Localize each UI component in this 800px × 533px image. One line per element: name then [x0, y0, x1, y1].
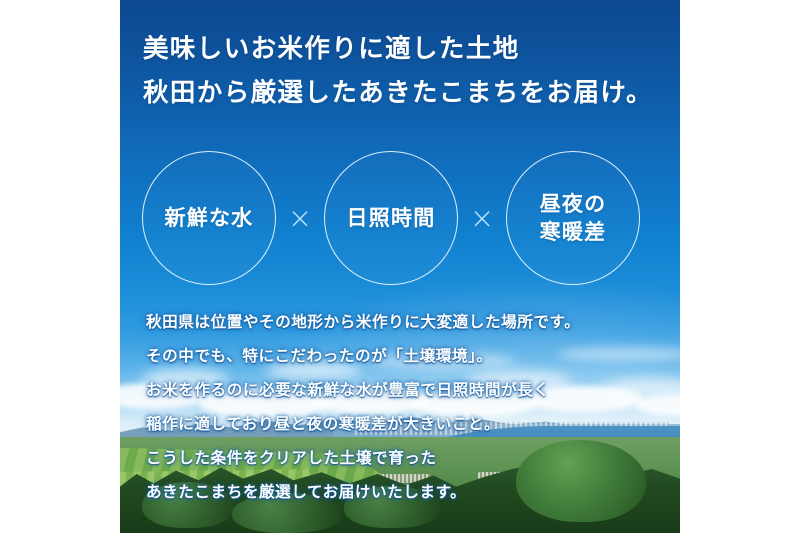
- body-line-6: あきたこまちを厳選してお届けいたします。: [146, 476, 658, 510]
- times-separator-2: ×: [458, 204, 506, 233]
- banner-stage: 美味しいお米作りに適した土地 秋田から厳選したあきたこまちをお届け。 新鮮な水 …: [0, 0, 800, 533]
- factor-label-temperature-line-1: 昼夜の: [540, 190, 607, 218]
- letterbox-right: [680, 0, 800, 533]
- body-line-5: こうした条件をクリアした土壌で育った: [146, 442, 658, 476]
- factor-circle-temperature: 昼夜の 寒暖差: [506, 151, 640, 285]
- body-line-1: 秋田県は位置やその地形から米作りに大変適した場所です。: [146, 306, 658, 340]
- factor-label-water: 新鮮な水: [164, 204, 253, 232]
- landscape-photo: 美味しいお米作りに適した土地 秋田から厳選したあきたこまちをお届け。 新鮮な水 …: [120, 0, 680, 533]
- body-line-4: 稲作に適しており昼と夜の寒暖差が大きいこと。: [146, 408, 658, 442]
- body-line-2: その中でも、特にこだわったのが「土壌環境」。: [146, 340, 658, 374]
- banner-content: 美味しいお米作りに適した土地 秋田から厳選したあきたこまちをお届け。 新鮮な水 …: [120, 0, 680, 533]
- headline-line-2: 秋田から厳選したあきたこまちをお届け。: [143, 72, 663, 116]
- letterbox-left: [0, 0, 120, 533]
- factor-label-sunlight: 日照時間: [346, 204, 435, 232]
- factor-circles: 新鮮な水 × 日照時間 × 昼夜の 寒暖差: [142, 150, 658, 286]
- headline: 美味しいお米作りに適した土地 秋田から厳選したあきたこまちをお届け。: [143, 28, 663, 116]
- body-copy: 秋田県は位置やその地形から米作りに大変適した場所です。 その中でも、特にこだわっ…: [146, 306, 658, 510]
- factor-circle-sunlight: 日照時間: [324, 151, 458, 285]
- headline-line-1: 美味しいお米作りに適した土地: [143, 28, 663, 72]
- factor-label-temperature: 昼夜の 寒暖差: [540, 190, 607, 246]
- body-line-3: お米を作るのに必要な新鮮な水が豊富で日照時間が長く: [146, 374, 658, 408]
- times-separator-1: ×: [276, 204, 324, 233]
- factor-label-temperature-line-2: 寒暖差: [540, 218, 607, 246]
- factor-circle-water: 新鮮な水: [142, 151, 276, 285]
